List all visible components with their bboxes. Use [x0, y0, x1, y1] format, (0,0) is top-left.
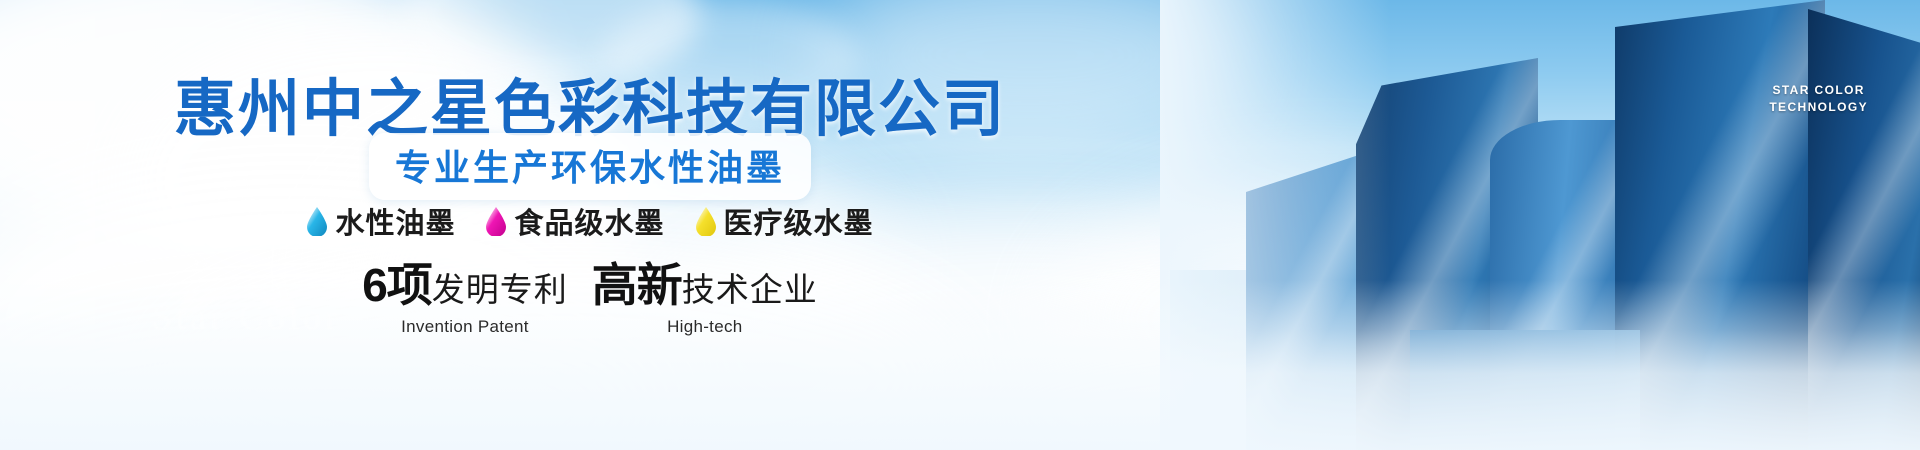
ink-product-label: 医疗级水墨: [724, 200, 874, 242]
subtitle-container: 专业生产环保水性油墨: [0, 133, 1180, 200]
badge-high-tech: 高新技术企业 High-tech: [592, 262, 818, 337]
badge-main-text: 6项发明专利: [362, 262, 568, 308]
subtitle-pill: 专业生产环保水性油墨: [369, 133, 811, 200]
ink-product-item: 食品级水墨: [485, 200, 664, 242]
ink-product-list: 水性油墨 食品级水墨: [0, 200, 1180, 242]
building-logo: STAR COLOR TECHNOLOGY: [1769, 82, 1868, 116]
building-logo-line-1: STAR COLOR: [1769, 82, 1868, 99]
badge-rest-text: 技术企业: [682, 271, 818, 308]
ink-product-item: 医疗级水墨: [695, 200, 874, 242]
water-drop-icon: [306, 206, 328, 236]
badge-english-text: High-tech: [592, 317, 818, 337]
badge-main-text: 高新技术企业: [592, 262, 818, 308]
badge-invention-patent: 6项发明专利 Invention Patent: [362, 262, 568, 337]
banner-content: 惠州中之星色彩科技有限公司 专业生产环保水性油墨 水性油墨: [0, 0, 1180, 450]
building-logo-line-2: TECHNOLOGY: [1769, 99, 1868, 116]
ink-product-label: 食品级水墨: [514, 200, 664, 242]
badge-english-text: Invention Patent: [362, 317, 568, 337]
ink-product-item: 水性油墨: [306, 200, 455, 242]
badge-rest-text: 发明专利: [432, 271, 568, 308]
water-drop-icon: [485, 206, 507, 236]
badge-strong-text: 高新: [592, 259, 682, 311]
water-drop-icon: [695, 206, 717, 236]
company-promo-banner: STAR COLOR TECHNOLOGY Star Color 惠州中之星色彩…: [0, 0, 1920, 450]
certification-badges: 6项发明专利 Invention Patent 高新技术企业 High-tech: [0, 262, 1180, 337]
ink-product-label: 水性油墨: [335, 200, 455, 242]
badge-strong-text: 6项: [362, 259, 432, 311]
